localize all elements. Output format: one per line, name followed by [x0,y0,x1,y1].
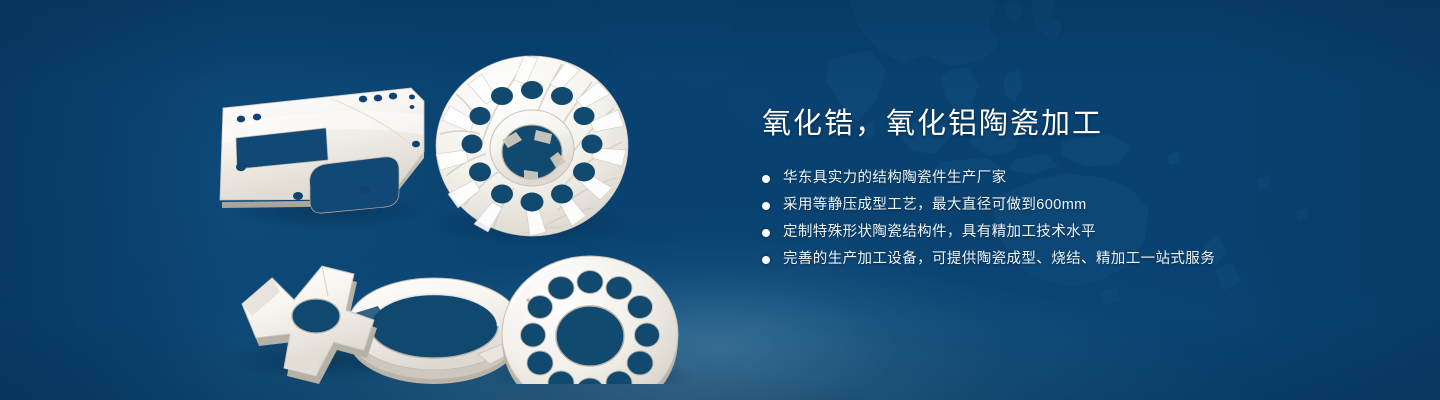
list-item: 华东具实力的结构陶瓷件生产厂家 [762,171,1362,186]
product-photo [180,24,740,384]
bullet-dot-icon [762,175,770,183]
page-title: 氧化锆，氧化铝陶瓷加工 [762,108,1362,141]
bullet-dot-icon [762,229,770,237]
ceramic-impeller-shape [436,56,628,236]
list-item-label: 完善的生产加工设备，可提供陶瓷成型、烧结、精加工一站式服务 [783,252,1215,267]
feature-list: 华东具实力的结构陶瓷件生产厂家 采用等静压成型工艺，最大直径可做到600mm 定… [762,171,1362,267]
bullet-dot-icon [762,202,770,210]
bullet-dot-icon [762,256,770,264]
list-item: 采用等静压成型工艺，最大直径可做到600mm [762,198,1362,213]
list-item-label: 定制特殊形状陶瓷结构件，具有精加工技术水平 [783,225,1096,240]
banner-copy: 氧化锆，氧化铝陶瓷加工 华东具实力的结构陶瓷件生产厂家 采用等静压成型工艺，最大… [762,108,1362,279]
list-item-label: 华东具实力的结构陶瓷件生产厂家 [783,171,1007,186]
list-item-label: 采用等静压成型工艺，最大直径可做到600mm [783,198,1087,213]
list-item: 完善的生产加工设备，可提供陶瓷成型、烧结、精加工一站式服务 [762,252,1362,267]
ceramic-perforated-disc-shape [502,256,678,384]
list-item: 定制特殊形状陶瓷结构件，具有精加工技术水平 [762,225,1362,240]
hero-banner: 氧化锆，氧化铝陶瓷加工 华东具实力的结构陶瓷件生产厂家 采用等静压成型工艺，最大… [0,0,1440,400]
ceramic-flat-plate-shape [220,88,430,213]
